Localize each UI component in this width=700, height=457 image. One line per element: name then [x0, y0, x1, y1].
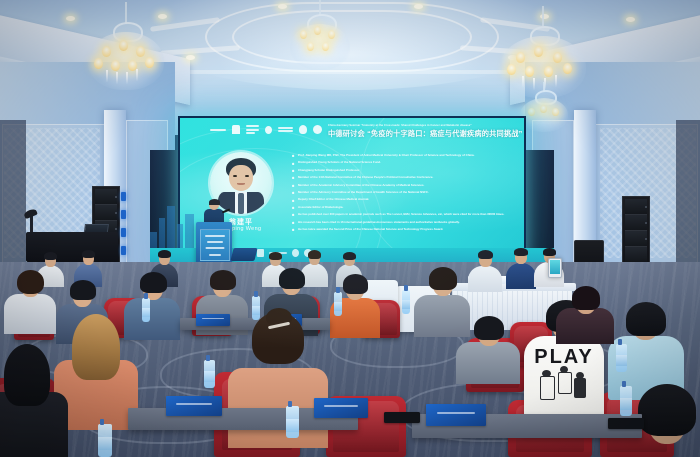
list-item: Member of the 14th National Committee of… — [292, 176, 520, 179]
hair — [72, 314, 120, 380]
hair — [140, 272, 167, 293]
list-item: Deputy Chief Editor of the Chinese Medic… — [292, 198, 520, 201]
ceiling-downlight — [626, 17, 635, 22]
screen-header-cn: 中德研讨会 “免疫的十字路口：癌症与代谢疾病的共同挑战” — [328, 129, 524, 138]
smartphone — [608, 418, 644, 429]
audience-member — [456, 318, 520, 380]
water-bottle — [142, 298, 150, 322]
ceiling-downlight — [278, 4, 287, 9]
hair — [638, 384, 696, 436]
water-bottle — [402, 290, 410, 314]
vip-torso — [506, 263, 536, 289]
water-bottle — [204, 360, 215, 388]
list-item: Member of the Advisory Committee at the … — [292, 191, 520, 194]
water-bottle — [286, 406, 299, 438]
torso — [4, 294, 56, 334]
screen-header-en: China-Germany Seminar "Immunity at the C… — [328, 124, 524, 127]
conference-photo: China-Germany Seminar "Immunity at the C… — [0, 0, 700, 457]
hair — [44, 252, 57, 260]
list-item: He has twice awarded the Second Prize of… — [292, 228, 520, 231]
stage-light-left — [121, 246, 126, 255]
list-item: Associate Editor of Diabetologia. — [292, 206, 520, 209]
wall-recess-left — [0, 120, 26, 270]
lectern-graphic-panel — [200, 229, 230, 261]
portrait-face — [229, 165, 253, 191]
anhui-medical-university-logo — [232, 125, 240, 134]
hair — [279, 268, 305, 289]
speaker-bio-items: Prof. Jianping Weng MD, PhD, The Preside… — [292, 154, 520, 231]
portrait-suit-right — [247, 192, 264, 214]
logo-wordmark-2 — [278, 127, 293, 132]
vip-attendee — [506, 248, 536, 288]
hair — [210, 270, 236, 290]
hair — [308, 250, 321, 259]
backdrop-logo — [292, 249, 299, 257]
screen-logo-row — [210, 125, 322, 134]
hair — [474, 316, 504, 340]
clock-emblem-logo — [313, 125, 322, 134]
vip-hair — [514, 248, 528, 256]
water-bottle — [98, 424, 112, 457]
stage-light-left — [121, 192, 126, 201]
ustc-logo — [265, 126, 272, 134]
stage-light-left — [121, 210, 126, 219]
hair — [4, 344, 50, 406]
list-item: Changjiang Scholar Distinguished Profess… — [292, 169, 520, 172]
list-item: Member of the Academic Advisory Committe… — [292, 184, 520, 187]
audience-member — [556, 288, 614, 340]
hair — [343, 252, 356, 260]
ceiling-downlight — [186, 55, 195, 60]
hair — [626, 302, 666, 336]
screen-header: China-Germany Seminar "Immunity at the C… — [180, 120, 524, 142]
smartphone — [384, 412, 420, 423]
water-bottle — [334, 292, 342, 316]
water-bottle — [616, 344, 627, 372]
notepad — [426, 404, 486, 426]
hair — [158, 250, 171, 258]
portrait-mouth — [237, 183, 245, 185]
ceiling-downlight — [414, 4, 423, 9]
hair — [343, 274, 368, 294]
list-item: Prof. Jianping Weng MD, PhD, The Preside… — [292, 154, 520, 157]
list-item: His research has been cited in 16 intern… — [292, 221, 520, 224]
ceiling-coffer-inner — [232, 10, 472, 64]
vip-torso — [468, 266, 502, 292]
list-item: He has published over 300 papers in acad… — [292, 213, 520, 216]
ceiling-downlight — [158, 14, 167, 19]
notepad — [196, 314, 230, 326]
torso — [456, 342, 520, 384]
raised-smartphone — [548, 258, 562, 278]
ceiling-downlight — [66, 16, 75, 21]
water-bottle — [620, 386, 632, 416]
portrait-eye-left — [233, 175, 237, 177]
portrait-eye-right — [245, 175, 249, 177]
play-shirt-graphic — [538, 370, 590, 408]
audience-member — [4, 272, 56, 330]
hair — [572, 286, 600, 310]
hair — [70, 280, 96, 300]
hair — [543, 248, 556, 256]
logo-mark-wordmark — [210, 129, 226, 131]
vip-attendee — [468, 250, 502, 290]
portrait-tie — [238, 193, 244, 214]
hair — [17, 270, 44, 294]
list-item: Distinguished Young Scholars of the Nati… — [292, 161, 520, 164]
university-of-hamburg-logo — [299, 125, 307, 134]
logo-wordmark-1 — [246, 125, 259, 134]
hair — [269, 252, 282, 260]
speaker-bio-list: Prof. Jianping Weng MD, PhD, The Preside… — [292, 154, 520, 235]
hair — [82, 250, 95, 258]
notepad — [314, 398, 368, 418]
stage-monitor-wedge — [230, 248, 257, 261]
hair — [429, 267, 457, 290]
stage-light-left — [121, 228, 126, 237]
presenter-hair — [209, 199, 220, 205]
vip-hair — [478, 250, 493, 259]
audience-member-front-far-left — [0, 344, 68, 457]
wall-recess-right — [676, 120, 700, 270]
lectern — [196, 222, 232, 266]
notepad — [166, 396, 222, 416]
